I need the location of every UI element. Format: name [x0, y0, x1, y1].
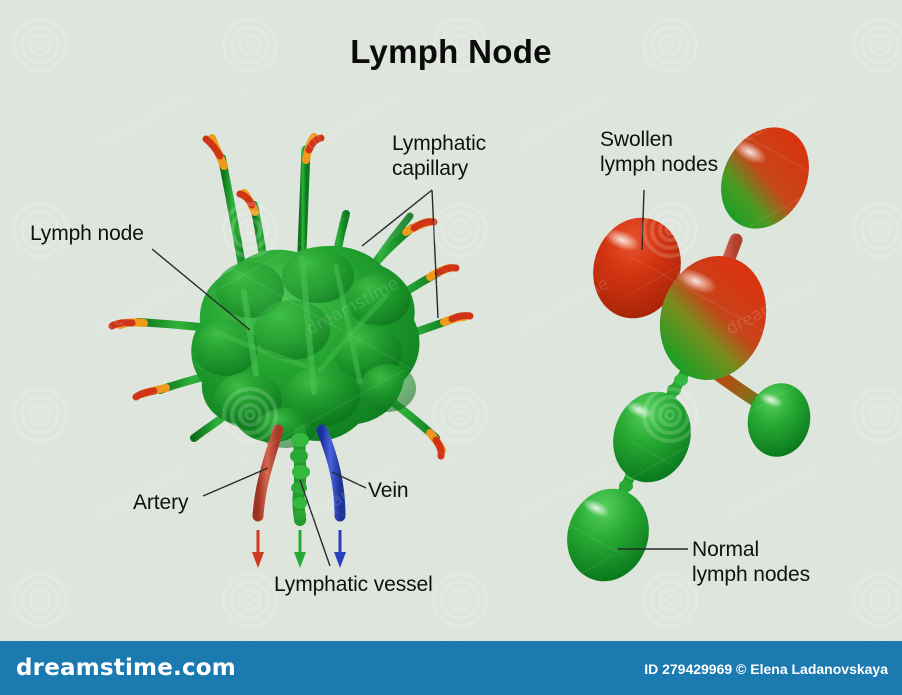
label-lymph-node: Lymph node — [30, 221, 144, 246]
image-credit: ID 279429969 © Elena Ladanovskaya — [644, 661, 888, 677]
artboard: dreamstime — [0, 0, 902, 641]
label-artery: Artery — [133, 490, 188, 515]
label-lymphatic-vessel: Lymphatic vessel — [274, 572, 433, 597]
page-title: Lymph Node — [0, 33, 902, 71]
illustration-canvas: dreamstime — [0, 0, 902, 695]
label-swollen-lymph-nodes: Swollen lymph nodes — [600, 127, 718, 177]
label-lymphatic-capillary: Lymphatic capillary — [392, 131, 486, 181]
dreamstime-logo[interactable]: dreamstime.com — [16, 655, 236, 681]
brand-text: dreamstime.com — [16, 655, 236, 681]
stock-photo-footer: dreamstime.com ID 279429969 © Elena Lada… — [0, 641, 902, 695]
label-normal-lymph-nodes: Normal lymph nodes — [692, 537, 810, 587]
label-vein: Vein — [368, 478, 408, 503]
